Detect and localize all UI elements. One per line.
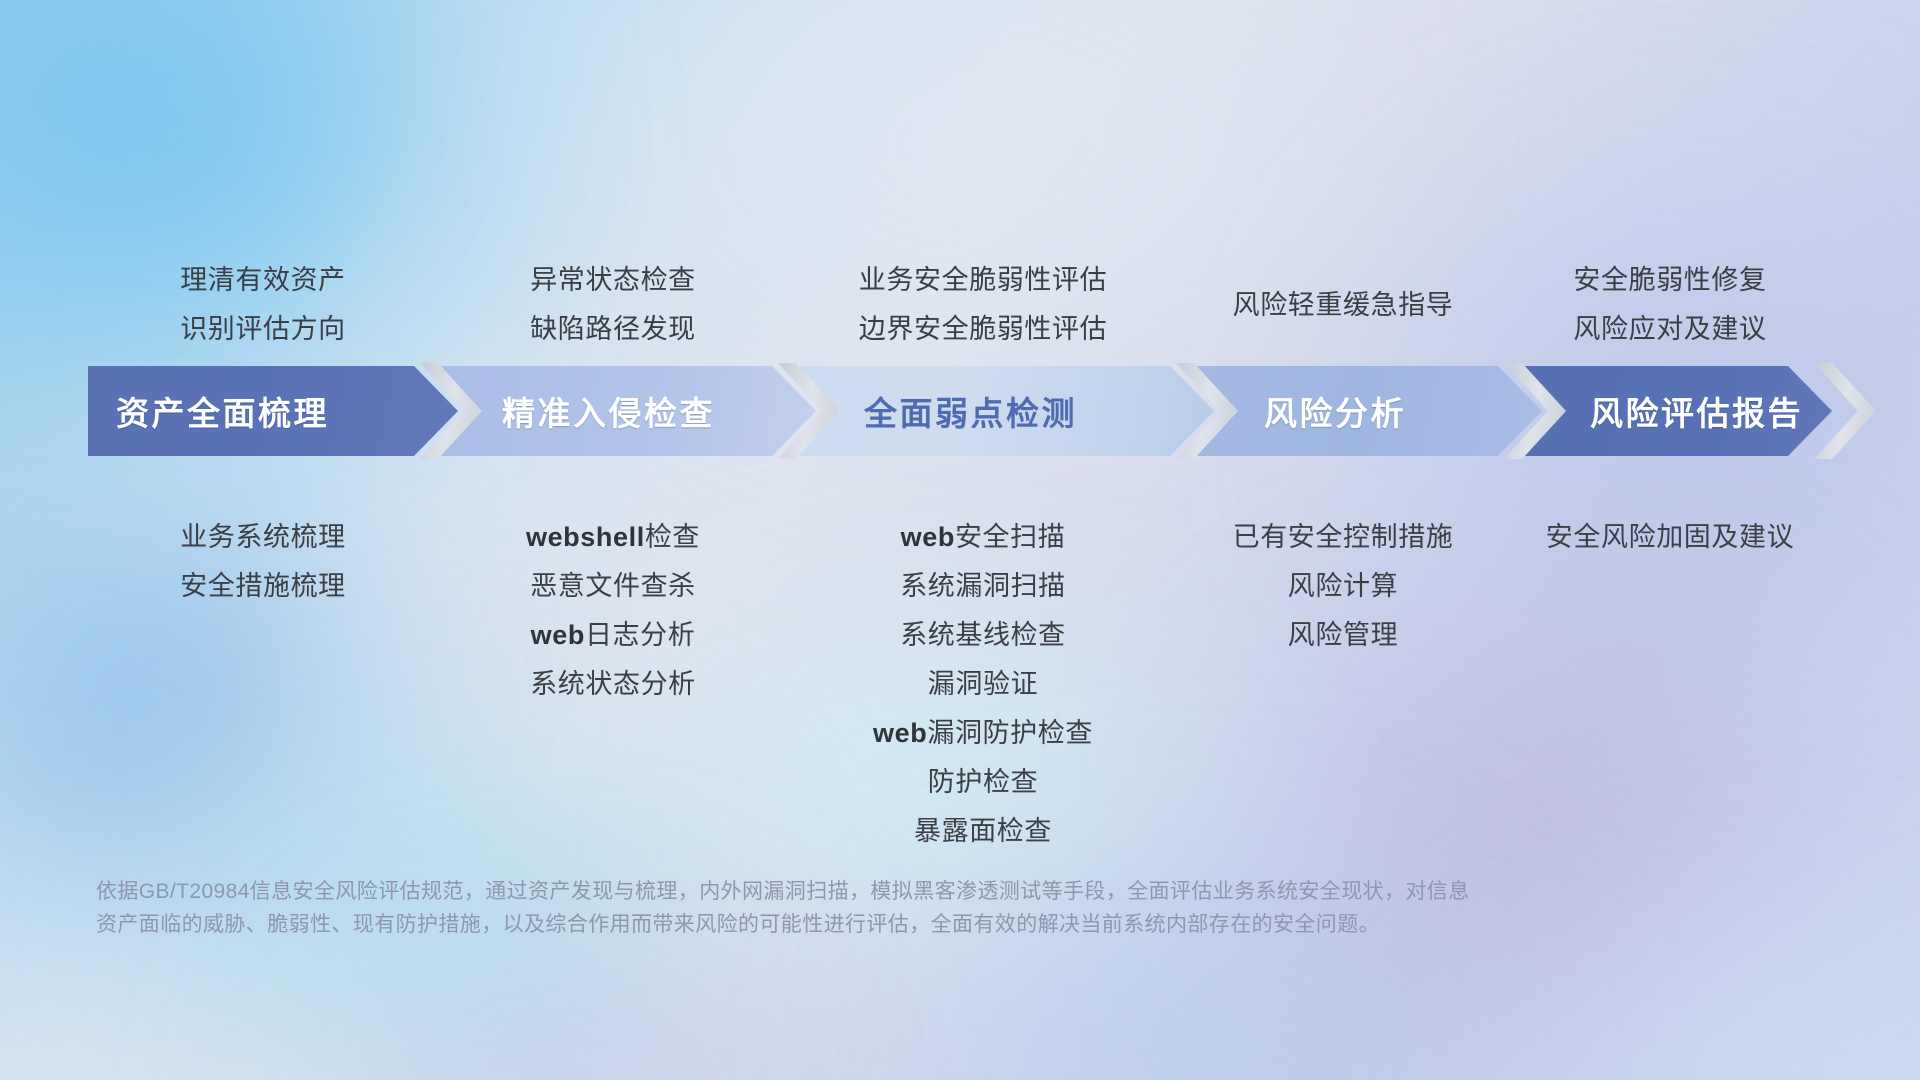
stage-task-item: web日志分析 [438, 611, 788, 660]
stage-task-item: webshell检查 [438, 513, 788, 562]
stage-task-item: 系统漏洞扫描 [788, 562, 1178, 611]
stage-task-item: 风险管理 [1178, 611, 1508, 660]
stage-task-item: web漏洞防护检查 [788, 709, 1178, 758]
stage-arrow-asset-inventory[interactable]: 资产全面梳理 [88, 366, 458, 456]
stage-task-item: 安全风险加固及建议 [1508, 513, 1832, 562]
stage-task-text: 日志分析 [585, 620, 695, 650]
stage-input-item: 边界安全脆弱性评估 [788, 305, 1178, 354]
stage-arrow-label: 风险评估报告 [1520, 387, 1803, 435]
stage-task-item: 暴露面检查 [788, 807, 1178, 856]
stage-task-item: 系统状态分析 [438, 660, 788, 709]
stage-task-item: 系统基线检查 [788, 611, 1178, 660]
stage-input-item: 风险轻重缓急指导 [1178, 281, 1508, 330]
stage-task-item: 漏洞验证 [788, 660, 1178, 709]
stage-task-item: 恶意文件查杀 [438, 562, 788, 611]
stage-task-item: 已有安全控制措施 [1178, 513, 1508, 562]
stage-task-item: 安全措施梳理 [88, 562, 438, 611]
stage-task-prefix: webshell [526, 522, 645, 552]
stage-arrow-precise-intrusion-check[interactable]: 精准入侵检查 [436, 366, 816, 456]
stage-tasks-comprehensive-weakness-detection: web安全扫描 系统漏洞扫描 系统基线检查 漏洞验证 web漏洞防护检查 防护检… [788, 513, 1178, 856]
stage-inputs-precise-intrusion-check: 异常状态检查 缺陷路径发现 [438, 256, 788, 354]
stage-inputs-comprehensive-weakness-detection: 业务安全脆弱性评估 边界安全脆弱性评估 [788, 256, 1178, 354]
stage-tasks-risk-assessment-report: 安全风险加固及建议 [1508, 513, 1832, 562]
stage-input-item: 缺陷路径发现 [438, 305, 788, 354]
stage-task-item: 风险计算 [1178, 562, 1508, 611]
stage-input-item: 安全脆弱性修复 [1508, 256, 1832, 305]
process-arrow-band: 风险评估报告 风险分析 全面弱点检测 精准入侵检查 资产全面梳理 [88, 366, 1832, 456]
stage-task-item: 业务系统梳理 [88, 513, 438, 562]
stage-input-item: 异常状态检查 [438, 256, 788, 305]
stage-task-prefix: web [901, 522, 955, 552]
stage-tasks-precise-intrusion-check: webshell检查 恶意文件查杀 web日志分析 系统状态分析 [438, 513, 788, 709]
stage-task-item: web安全扫描 [788, 513, 1178, 562]
stage-arrow-risk-analysis[interactable]: 风险分析 [1192, 366, 1542, 456]
stage-tasks-asset-inventory: 业务系统梳理 安全措施梳理 [88, 513, 438, 611]
stage-inputs-risk-analysis: 风险轻重缓急指导 [1178, 281, 1508, 354]
stage-arrow-label: 风险分析 [1192, 387, 1406, 435]
stage-task-text: 安全扫描 [955, 522, 1065, 552]
stage-task-text: 检查 [645, 522, 700, 552]
stage-arrow-risk-assessment-report[interactable]: 风险评估报告 [1520, 366, 1832, 456]
stage-arrow-label: 全面弱点检测 [794, 387, 1077, 435]
stage-input-item: 识别评估方向 [88, 305, 438, 354]
stage-task-prefix: web [873, 718, 927, 748]
footer-line: 资产面临的威胁、脆弱性、现有防护措施，以及综合作用而带来风险的可能性进行评估，全… [96, 908, 1776, 941]
diagram-content: 理清有效资产 识别评估方向 业务系统梳理 安全措施梳理 异常状态检查 缺陷路径发… [0, 0, 1920, 1080]
stage-task-prefix: web [531, 620, 585, 650]
stage-arrow-label: 资产全面梳理 [88, 387, 329, 435]
stage-arrow-label: 精准入侵检查 [436, 387, 715, 435]
footer-description: 依据GB/T20984信息安全风险评估规范，通过资产发现与梳理，内外网漏洞扫描，… [96, 875, 1776, 941]
stage-task-item: 防护检查 [788, 758, 1178, 807]
slide-canvas: 理清有效资产 识别评估方向 业务系统梳理 安全措施梳理 异常状态检查 缺陷路径发… [0, 0, 1920, 1080]
stage-tasks-risk-analysis: 已有安全控制措施 风险计算 风险管理 [1178, 513, 1508, 660]
stage-inputs-asset-inventory: 理清有效资产 识别评估方向 [88, 256, 438, 354]
stage-input-item: 风险应对及建议 [1508, 305, 1832, 354]
footer-line: 依据GB/T20984信息安全风险评估规范，通过资产发现与梳理，内外网漏洞扫描，… [96, 875, 1776, 908]
stage-input-item: 理清有效资产 [88, 256, 438, 305]
stage-input-item: 业务安全脆弱性评估 [788, 256, 1178, 305]
stage-arrow-comprehensive-weakness-detection[interactable]: 全面弱点检测 [794, 366, 1214, 456]
stage-inputs-risk-assessment-report: 安全脆弱性修复 风险应对及建议 [1508, 256, 1832, 354]
stage-task-text: 漏洞防护检查 [927, 718, 1093, 748]
